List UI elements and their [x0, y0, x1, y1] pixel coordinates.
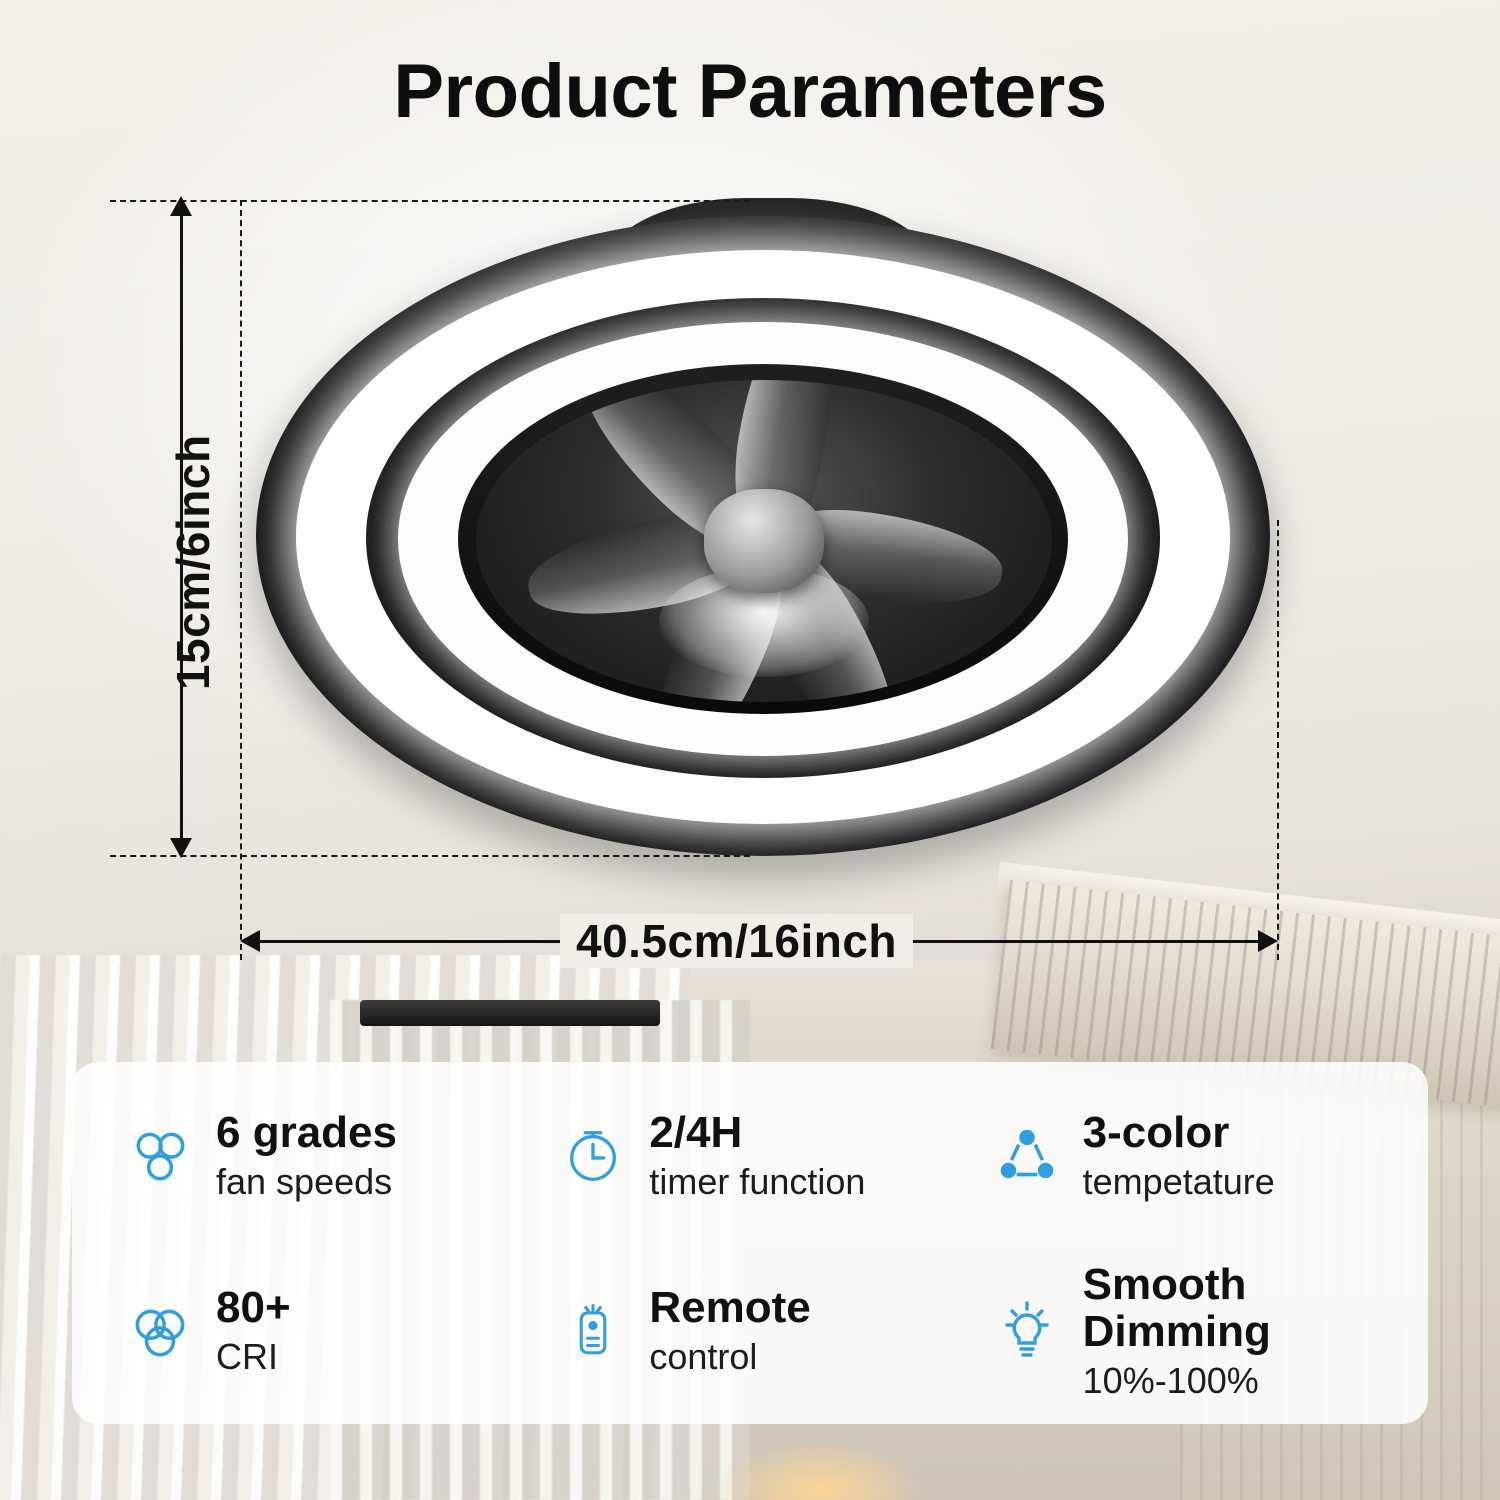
feature-title: 2/4H: [649, 1109, 865, 1157]
remote-control-icon: [557, 1295, 629, 1367]
feature-item-fan-speeds: 6 grades fan speeds: [100, 1068, 533, 1243]
feature-title: 6 grades: [216, 1109, 397, 1157]
feature-item-remote: Remote control: [533, 1243, 966, 1418]
feature-item-dimming: Smooth Dimming 10%-100%: [967, 1243, 1400, 1418]
feature-item-cri: 80+ CRI: [100, 1243, 533, 1418]
feature-subtitle: CRI: [216, 1338, 291, 1377]
page-title: Product Parameters: [0, 48, 1500, 135]
ceiling-fan-product: [248, 198, 1278, 858]
clock-timer-icon: [557, 1120, 629, 1192]
height-arrow-top: [170, 196, 192, 216]
height-guide-top: [110, 200, 750, 202]
feature-subtitle: timer function: [649, 1163, 865, 1202]
width-guide-right: [1277, 520, 1279, 960]
curtain-rod: [360, 1000, 660, 1026]
height-arrow-bottom: [170, 838, 192, 858]
fan-blades-icon: [124, 1120, 196, 1192]
feature-title: 3-color: [1083, 1109, 1275, 1157]
feature-subtitle: tempetature: [1083, 1163, 1275, 1202]
feature-text: 3-color tempetature: [1083, 1109, 1275, 1201]
width-arrow-left: [240, 930, 260, 952]
warm-lamp-glow: [690, 1420, 950, 1500]
dimming-bulb-icon: [991, 1295, 1063, 1367]
height-dimension-label: 15cm/6inch: [166, 434, 220, 690]
feature-title: Remote: [649, 1284, 810, 1332]
feature-title: 80+: [216, 1284, 291, 1332]
fan-blade-housing: [476, 380, 1052, 702]
feature-item-color-temperature: 3-color tempetature: [967, 1068, 1400, 1243]
feature-item-timer: 2/4H timer function: [533, 1068, 966, 1243]
feature-text: Smooth Dimming 10%-100%: [1083, 1261, 1400, 1401]
feature-subtitle: control: [649, 1338, 810, 1377]
feature-text: 6 grades fan speeds: [216, 1109, 397, 1201]
feature-title: Smooth Dimming: [1083, 1261, 1400, 1356]
cri-circles-icon: [124, 1295, 196, 1367]
feature-text: 2/4H timer function: [649, 1109, 865, 1201]
feature-subtitle: fan speeds: [216, 1163, 397, 1202]
width-arrow-right: [1258, 930, 1278, 952]
width-dimension-label: 40.5cm/16inch: [560, 914, 913, 968]
width-guide-left: [240, 200, 242, 960]
product-parameters-image: Product Parameters 15cm/6inch 40.5cm/16i…: [0, 0, 1500, 1500]
feature-text: 80+ CRI: [216, 1284, 291, 1376]
height-guide-bottom: [110, 855, 750, 857]
feature-subtitle: 10%-100%: [1083, 1362, 1400, 1401]
fan-motor-hub: [704, 489, 824, 593]
color-temperature-icon: [991, 1120, 1063, 1192]
features-panel: 6 grades fan speeds 2/4H timer function: [72, 1062, 1428, 1424]
feature-text: Remote control: [649, 1284, 810, 1376]
